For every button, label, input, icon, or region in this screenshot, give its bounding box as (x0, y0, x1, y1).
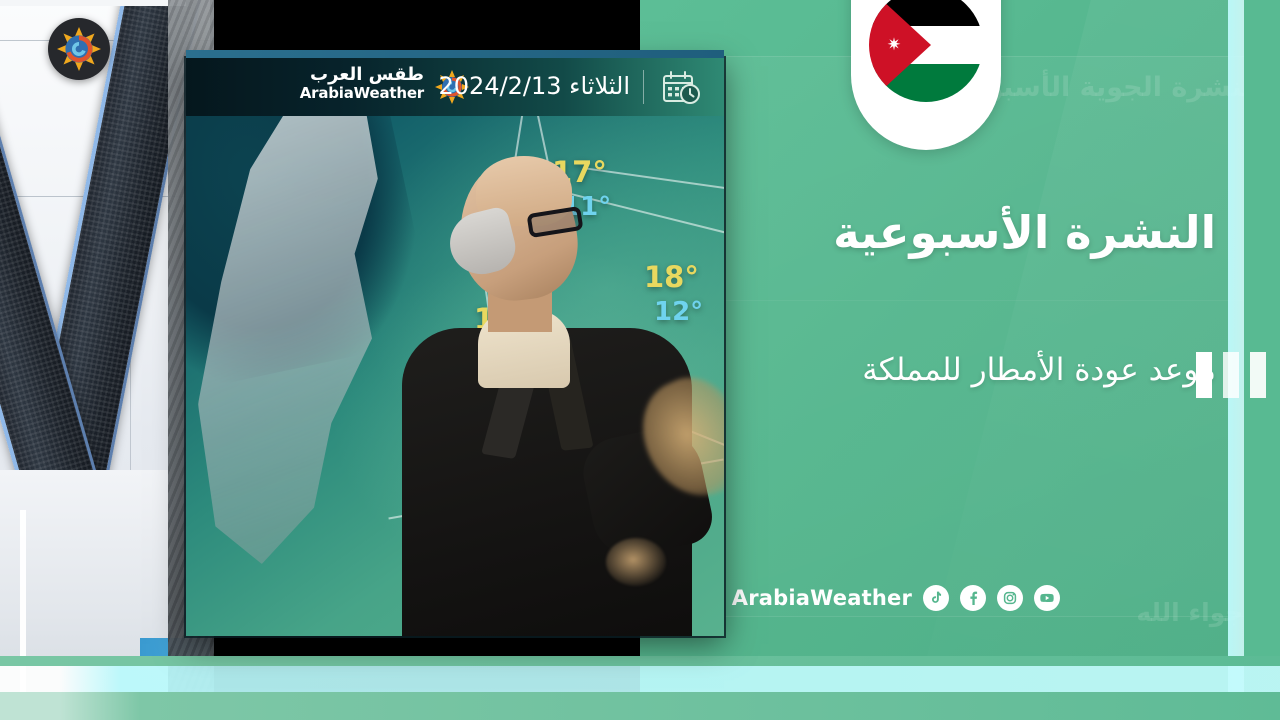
facebook-icon[interactable] (960, 585, 986, 611)
youtube-icon[interactable] (1034, 585, 1060, 611)
social-brand-row: ArabiaWeather (732, 585, 1060, 611)
jordan-flag-badge: ✷ (851, 0, 1001, 150)
flag-star-icon: ✷ (886, 37, 902, 53)
weather-map-screen: 17° 11° 18° 12° 16° 9° 21° 10° (186, 58, 724, 636)
bottom-cyan-band (0, 666, 1280, 692)
header-divider (643, 70, 644, 104)
broadcast-date: الثلاثاء 2024/2/13 (438, 72, 630, 100)
broadcast-frame: النشرة الجوية الأسبوعية أجواء الله النشر… (0, 0, 1280, 720)
brand-english-label: ArabiaWeather (300, 85, 424, 102)
top-edge-strip (0, 0, 186, 6)
bottom-floor-band (0, 692, 1280, 720)
page-title: النشرة الأسبوعية (686, 206, 1216, 259)
channel-logo-badge (48, 18, 110, 80)
map-brand-block: طقس العرب ArabiaWeather (300, 66, 424, 102)
page-subtitle: موعد عودة الأمطار للمملكة (716, 348, 1216, 393)
map-header-bar: طقس العرب ArabiaWeather الثلاثاء 2024/2/ (186, 58, 724, 116)
brand-name-label: ArabiaWeather (732, 586, 912, 610)
screen-top-strip (186, 50, 724, 58)
brand-arabic-label: طقس العرب (300, 66, 424, 85)
instagram-icon[interactable] (997, 585, 1023, 611)
decorative-bars (1196, 352, 1276, 398)
sun-spiral-icon (57, 27, 101, 71)
calendar-clock-icon (660, 70, 702, 104)
bottom-green-band (0, 656, 1280, 666)
jordan-flag-icon: ✷ (869, 0, 983, 102)
tiktok-icon[interactable] (923, 585, 949, 611)
